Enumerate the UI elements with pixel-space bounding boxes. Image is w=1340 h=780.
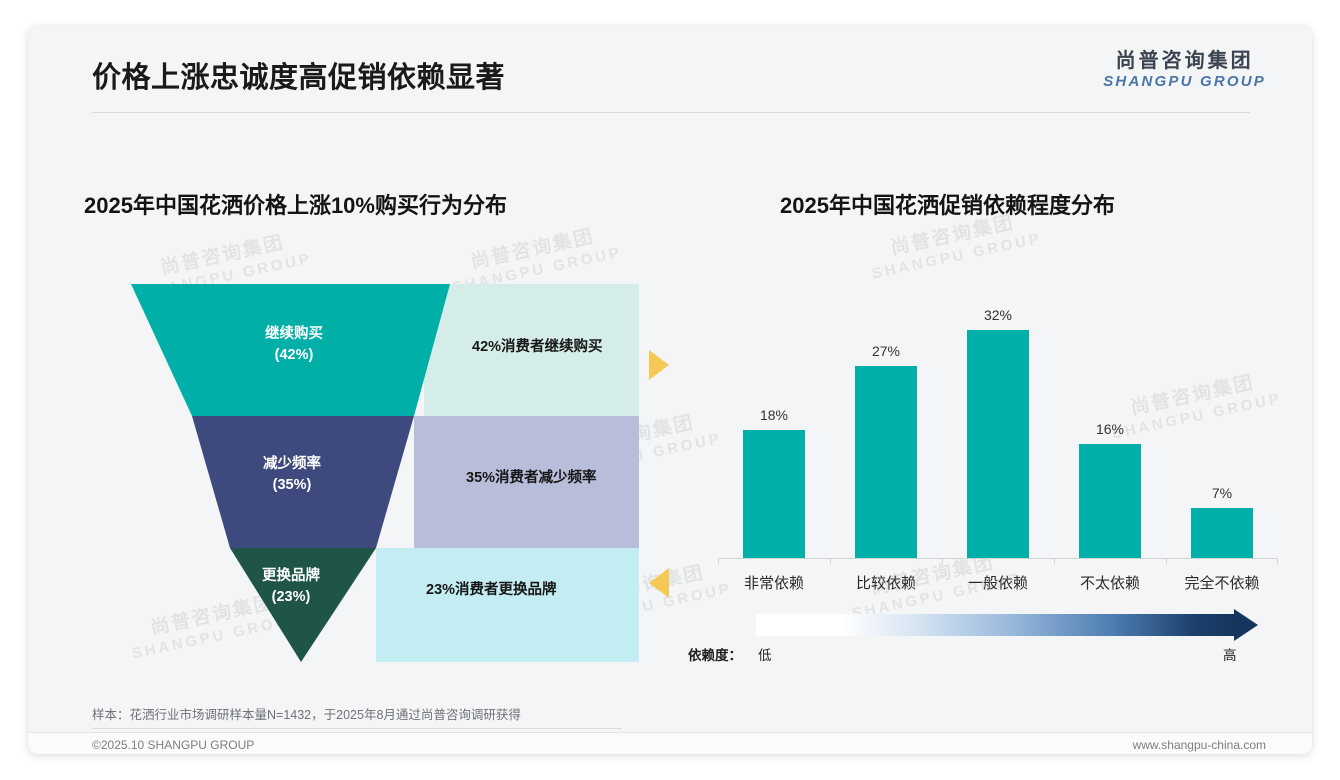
pointer-left-icon: [649, 568, 669, 598]
bar-value-label: 27%: [872, 343, 900, 359]
x-axis-line: [718, 558, 1278, 559]
header-divider: [92, 112, 1250, 113]
bar-column: 18%: [743, 407, 805, 558]
copyright-text: ©2025.10 SHANGPU GROUP: [92, 738, 254, 752]
bar-value-label: 18%: [760, 407, 788, 423]
axis-tick: [1277, 558, 1278, 564]
gradient-bar: [756, 614, 1234, 636]
bar-column: 16%: [1079, 421, 1141, 558]
funnel-stage-1-label: 继续购买 (42%): [234, 324, 354, 366]
category-label: 非常依赖: [718, 572, 830, 593]
funnel-stage-3-label: 更换品牌 (23%): [236, 566, 346, 608]
axis-tick: [942, 558, 943, 564]
funnel-stage-1-desc: 42%消费者继续购买: [472, 335, 603, 356]
funnel-stage-2-label: 减少频率 (35%): [232, 454, 352, 496]
note-divider: [92, 728, 622, 729]
legend-key-label: 依赖度：: [688, 644, 742, 664]
bar-rect: [743, 430, 805, 558]
company-logo: 尚普咨询集团 SHANGPU GROUP: [1103, 50, 1266, 91]
category-label: 比较依赖: [830, 572, 942, 593]
legend-high-label: 高: [1223, 644, 1237, 664]
funnel-panel-3: [376, 548, 639, 662]
bar-value-label: 16%: [1096, 421, 1124, 437]
logo-text-cn: 尚普咨询集团: [1103, 50, 1266, 73]
pointer-right-icon: [649, 350, 669, 380]
logo-text-en: SHANGPU GROUP: [1103, 73, 1266, 91]
bar-rect: [855, 366, 917, 558]
right-chart-title: 2025年中国花洒促销依赖程度分布: [780, 188, 1115, 220]
axis-tick: [1054, 558, 1055, 564]
bar-rect: [1191, 508, 1253, 558]
category-label: 不太依赖: [1054, 572, 1166, 593]
category-label: 一般依赖: [942, 572, 1054, 593]
footer-divider: [28, 732, 1312, 733]
left-chart-title: 2025年中国花洒价格上涨10%购买行为分布: [84, 188, 507, 220]
legend-low-label: 低: [758, 644, 772, 664]
axis-tick: [830, 558, 831, 564]
funnel-stage-2-desc: 35%消费者减少频率: [466, 466, 597, 487]
slide-header: 价格上涨忠诚度高促销依赖显著 尚普咨询集团 SHANGPU GROUP: [28, 26, 1312, 112]
axis-tick: [718, 558, 719, 564]
bar-value-label: 32%: [984, 307, 1012, 323]
funnel-stage-3-desc: 23%消费者更换品牌: [426, 578, 557, 599]
bar-column: 32%: [967, 307, 1029, 558]
dependency-gradient-legend: 依赖度： 低 高: [718, 614, 1278, 672]
bar-value-label: 7%: [1212, 485, 1232, 501]
sample-note: 样本：花洒行业市场调研样本量N=1432，于2025年8月通过尚普咨询调研获得: [92, 704, 521, 723]
category-label: 完全不依赖: [1166, 572, 1278, 593]
page-title: 价格上涨忠诚度高促销依赖显著: [92, 54, 505, 96]
website-url[interactable]: www.shangpu-china.com: [1133, 738, 1266, 752]
slide-card: 尚普咨询集团 SHANGPU GROUP 尚普咨询集团 SHANGPU GROU…: [28, 26, 1312, 754]
axis-tick: [1166, 558, 1167, 564]
bar-column: 27%: [855, 343, 917, 558]
bar-column: 7%: [1191, 485, 1253, 558]
gradient-arrow-icon: [1234, 609, 1258, 641]
bar-plot-area: 18%27%32%16%7%: [718, 258, 1278, 558]
funnel-chart: 继续购买 (42%) 42%消费者继续购买 减少频率 (35%) 35%消费者减…: [84, 258, 644, 678]
dependency-bar-chart: 18%27%32%16%7% 非常依赖比较依赖一般依赖不太依赖完全不依赖: [718, 258, 1278, 588]
bar-rect: [1079, 444, 1141, 558]
bar-rect: [967, 330, 1029, 558]
